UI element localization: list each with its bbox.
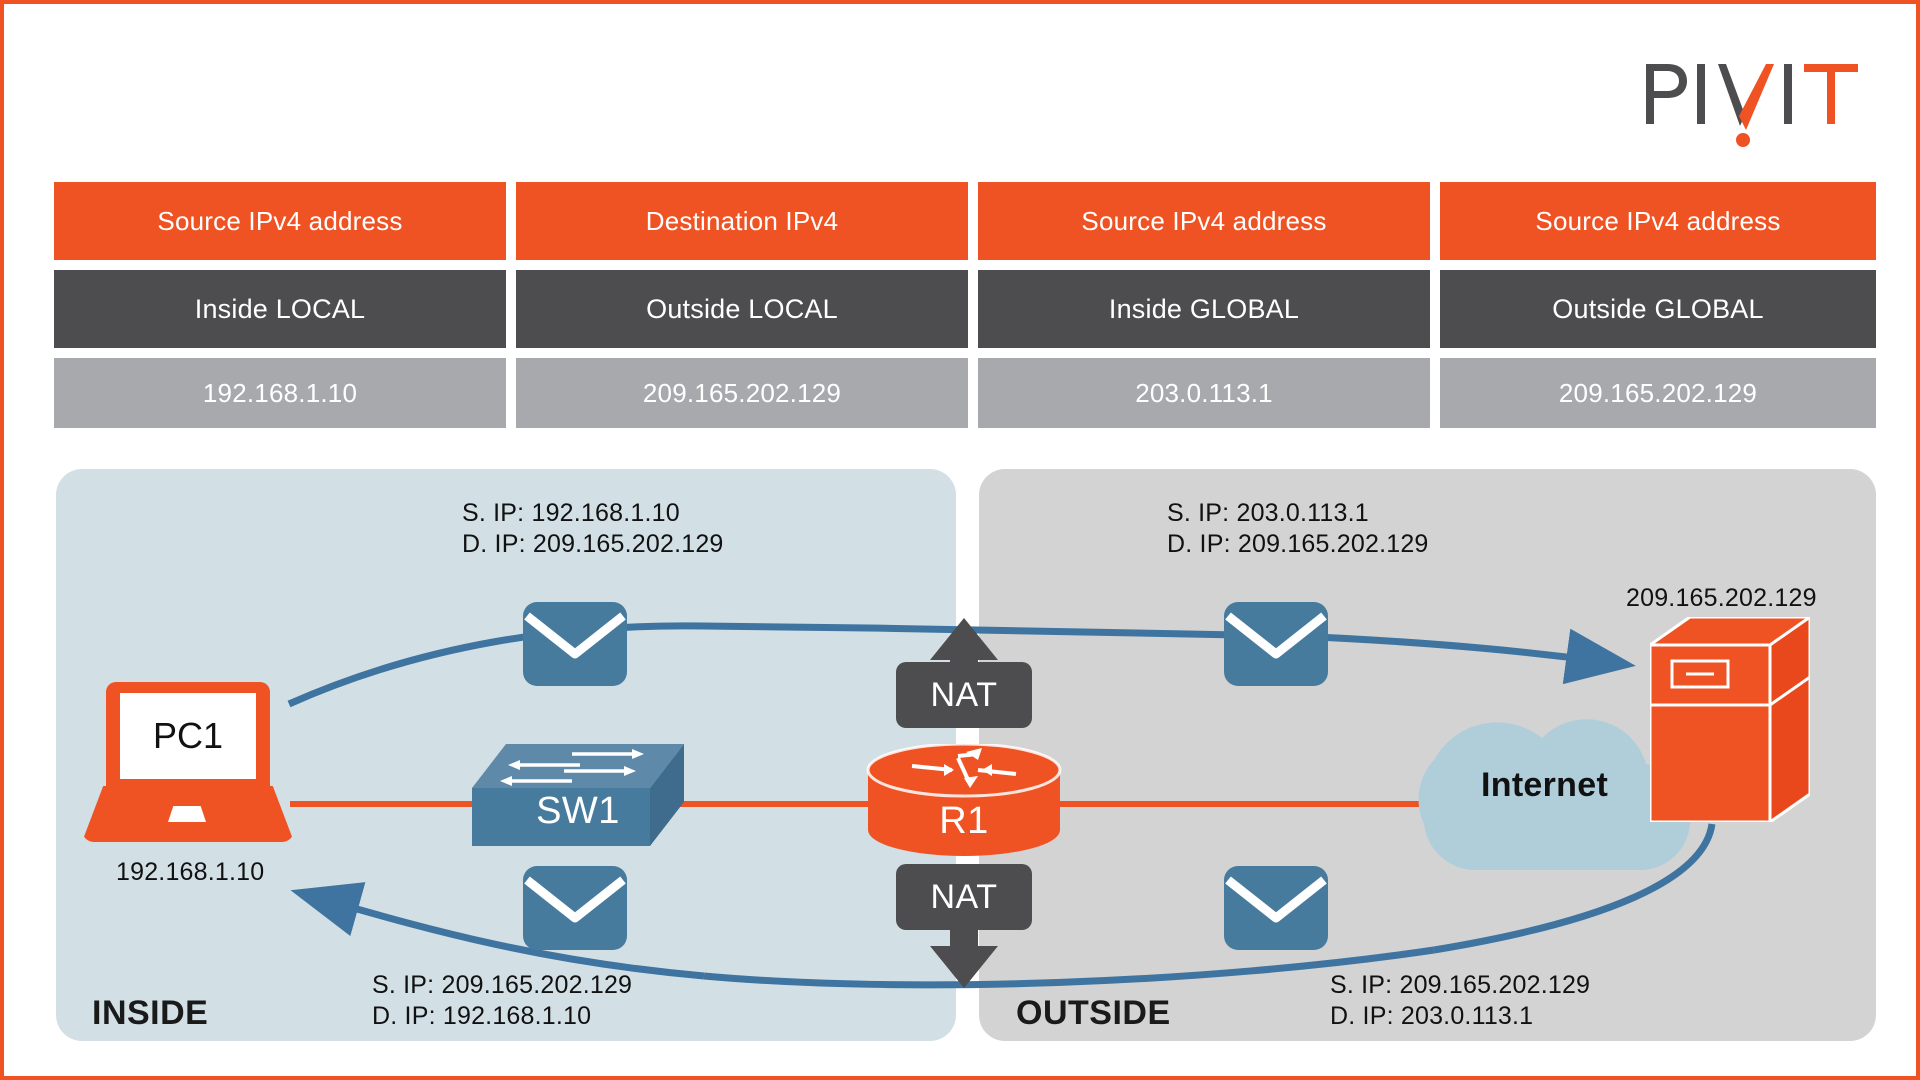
packet-envelope-icon xyxy=(1224,602,1328,686)
packet-envelope-icon xyxy=(523,602,627,686)
pivit-logo xyxy=(1642,58,1862,148)
packet-envelope-icon xyxy=(1224,866,1328,950)
r1-router[interactable]: R1 xyxy=(866,744,1062,856)
zone-label-inside: INSIDE xyxy=(92,994,208,1033)
internet-cloud-label: Internet xyxy=(1481,766,1608,805)
packet-label-inbound-outside: S. IP: 209.165.202.129 D. IP: 203.0.113.… xyxy=(1330,970,1590,1032)
column-header: Destination IPv4 xyxy=(516,182,968,260)
column-subheader: Inside GLOBAL xyxy=(978,270,1430,348)
pc1-laptop[interactable]: PC1 xyxy=(82,682,294,842)
column-subheader: Outside GLOBAL xyxy=(1440,270,1876,348)
sw1-switch[interactable]: SW1 xyxy=(472,744,684,846)
packet-label-inbound-inside: S. IP: 209.165.202.129 D. IP: 192.168.1.… xyxy=(372,970,632,1032)
column-value: 192.168.1.10 xyxy=(54,358,506,428)
column-subheader: Outside LOCAL xyxy=(516,270,968,348)
server-ip-label: 209.165.202.129 xyxy=(1626,584,1817,613)
column-header: Source IPv4 address xyxy=(978,182,1430,260)
pc1-ip-label: 192.168.1.10 xyxy=(116,858,264,887)
packet-envelope-icon xyxy=(523,866,627,950)
column-header: Source IPv4 address xyxy=(54,182,506,260)
zone-label-outside: OUTSIDE xyxy=(1016,994,1171,1033)
r1-label: R1 xyxy=(866,800,1062,843)
table-column-inside-global: Source IPv4 address Inside GLOBAL 203.0.… xyxy=(978,182,1430,450)
pc1-label: PC1 xyxy=(120,693,256,779)
diagram-page: Source IPv4 address Inside LOCAL 192.168… xyxy=(0,0,1920,1080)
address-table: Source IPv4 address Inside LOCAL 192.168… xyxy=(54,182,1876,450)
laptop-trackpad-icon xyxy=(168,806,206,822)
packet-label-outbound-inside: S. IP: 192.168.1.10 D. IP: 209.165.202.1… xyxy=(462,498,724,560)
server-icon xyxy=(1650,617,1810,822)
column-subheader: Inside LOCAL xyxy=(54,270,506,348)
nat-badge-outbound: NAT xyxy=(896,662,1032,728)
table-column-outside-global: Source IPv4 address Outside GLOBAL 209.1… xyxy=(1440,182,1876,450)
packet-label-outbound-outside: S. IP: 203.0.113.1 D. IP: 209.165.202.12… xyxy=(1167,498,1429,560)
column-value: 209.165.202.129 xyxy=(1440,358,1876,428)
table-column-outside-local: Destination IPv4 Outside LOCAL 209.165.2… xyxy=(516,182,968,450)
column-header: Source IPv4 address xyxy=(1440,182,1876,260)
nat-badge-inbound: NAT xyxy=(896,864,1032,930)
column-value: 209.165.202.129 xyxy=(516,358,968,428)
column-value: 203.0.113.1 xyxy=(978,358,1430,428)
pivit-logo-svg xyxy=(1642,58,1862,148)
web-server[interactable] xyxy=(1650,617,1810,822)
sw1-label: SW1 xyxy=(472,790,684,833)
table-column-inside-local: Source IPv4 address Inside LOCAL 192.168… xyxy=(54,182,506,450)
